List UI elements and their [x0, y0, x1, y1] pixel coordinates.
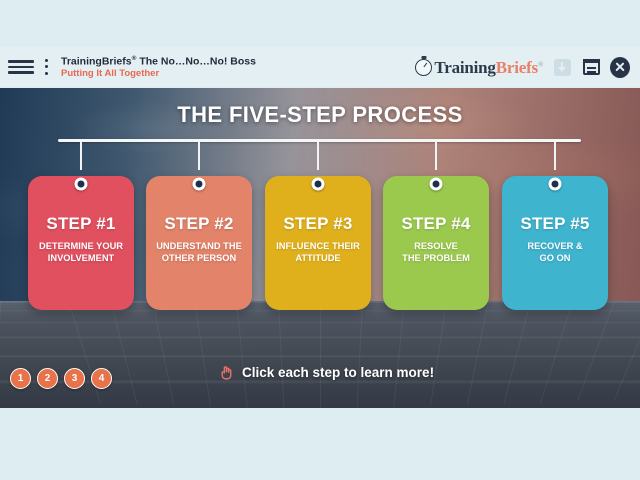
- course-title-rest: The No…No…No! Boss: [136, 55, 256, 67]
- step-cards-group: STEP #1DETERMINE YOURINVOLVEMENTSTEP #2U…: [0, 142, 640, 312]
- step-card-2[interactable]: STEP #2UNDERSTAND THEOTHER PERSON: [146, 162, 252, 310]
- presentation-player: TrainingBriefs® The No…No…No! Boss Putti…: [0, 0, 640, 480]
- step-card-body-1[interactable]: STEP #1DETERMINE YOURINVOLVEMENT: [28, 176, 134, 310]
- hamburger-icon[interactable]: [8, 58, 34, 76]
- logo-wordmark: TrainingBriefs®: [434, 59, 543, 76]
- paving-line: [540, 301, 573, 403]
- paving-line: [194, 301, 211, 407]
- step-description-2: UNDERSTAND THEOTHER PERSON: [151, 240, 247, 264]
- paving-line: [503, 301, 531, 405]
- paving-line: [577, 301, 615, 402]
- slide-title: THE FIVE-STEP PROCESS: [0, 102, 640, 128]
- slide-stage: THE FIVE-STEP PROCESS STEP #1DETERMINE Y…: [0, 88, 640, 408]
- step-card-1[interactable]: STEP #1DETERMINE YOURINVOLVEMENT: [28, 162, 134, 310]
- logo-registered-mark: ®: [538, 60, 543, 68]
- logo-word-briefs: Briefs: [496, 58, 538, 77]
- step-number-label-4: STEP #4: [383, 214, 489, 234]
- paving-line: [278, 301, 284, 408]
- step-number-label-3: STEP #3: [265, 214, 371, 234]
- pagination-pill-4[interactable]: 4: [91, 368, 112, 389]
- step-drop-line-2: [198, 142, 200, 170]
- step-card-5[interactable]: STEP #5RECOVER &GO ON: [502, 162, 608, 310]
- paving-line: [357, 301, 363, 408]
- step-description-5: RECOVER &GO ON: [507, 240, 603, 264]
- course-title: TrainingBriefs® The No…No…No! Boss: [61, 55, 256, 68]
- step-description-4: RESOLVETHE PROBLEM: [388, 240, 484, 264]
- close-button[interactable]: [610, 57, 630, 77]
- step-eyelet-5: [549, 178, 562, 191]
- step-card-4[interactable]: STEP #4RESOLVETHE PROBLEM: [383, 162, 489, 310]
- step-drop-line-1: [80, 142, 82, 170]
- step-drop-line-5: [554, 142, 556, 170]
- paving-line: [467, 301, 489, 406]
- click-hint-text: Click each step to learn more!: [242, 365, 434, 380]
- download-button[interactable]: [552, 57, 572, 77]
- paving-line: [110, 301, 138, 405]
- step-card-body-3[interactable]: STEP #3INFLUENCE THEIRATTITUDE: [265, 176, 371, 310]
- trainingbriefs-logo: TrainingBriefs®: [415, 59, 543, 76]
- pagination-pill-1[interactable]: 1: [10, 368, 31, 389]
- more-vertical-icon[interactable]: [41, 58, 51, 76]
- course-subtitle: Putting It All Together: [61, 68, 256, 79]
- paving-line: [320, 301, 321, 408]
- step-eyelet-2: [193, 178, 206, 191]
- step-card-3[interactable]: STEP #3INFLUENCE THEIRATTITUDE: [265, 162, 371, 310]
- paving-line: [236, 301, 248, 408]
- paving-line: [393, 301, 405, 408]
- step-eyelet-1: [75, 178, 88, 191]
- paving-line: [152, 301, 174, 406]
- step-drop-line-4: [435, 142, 437, 170]
- logo-word-training: Training: [434, 58, 495, 77]
- header-right-group: TrainingBriefs®: [415, 57, 640, 77]
- pagination-group: 1234: [10, 368, 112, 389]
- stopwatch-icon: [415, 59, 432, 76]
- step-card-body-2[interactable]: STEP #2UNDERSTAND THEOTHER PERSON: [146, 176, 252, 310]
- step-card-body-4[interactable]: STEP #4RESOLVETHE PROBLEM: [383, 176, 489, 310]
- step-number-label-2: STEP #2: [146, 214, 252, 234]
- pagination-pill-2[interactable]: 2: [37, 368, 58, 389]
- step-number-label-5: STEP #5: [502, 214, 608, 234]
- course-title-brand: TrainingBriefs: [61, 55, 132, 67]
- header-left-group: TrainingBriefs® The No…No…No! Boss Putti…: [0, 55, 256, 79]
- step-description-1: DETERMINE YOURINVOLVEMENT: [33, 240, 129, 264]
- step-card-body-5[interactable]: STEP #5RECOVER &GO ON: [502, 176, 608, 310]
- download-icon: [554, 59, 571, 76]
- player-footer-area: [0, 408, 640, 480]
- plaza-ground: [0, 301, 640, 408]
- course-titles: TrainingBriefs® The No…No…No! Boss Putti…: [61, 55, 256, 79]
- player-header: TrainingBriefs® The No…No…No! Boss Putti…: [0, 47, 640, 87]
- paving-line: [430, 301, 447, 407]
- notes-icon: [583, 59, 600, 75]
- click-hint: Click each step to learn more!: [218, 364, 434, 381]
- pointing-hand-icon: [218, 364, 235, 381]
- step-eyelet-4: [430, 178, 443, 191]
- step-eyelet-3: [312, 178, 325, 191]
- paving-lines: [0, 301, 640, 408]
- pagination-pill-3[interactable]: 3: [64, 368, 85, 389]
- notes-button[interactable]: [581, 57, 601, 77]
- paving-line: [614, 301, 640, 400]
- close-icon: [610, 57, 630, 78]
- step-drop-line-3: [317, 142, 319, 170]
- step-description-3: INFLUENCE THEIRATTITUDE: [270, 240, 366, 264]
- step-number-label-1: STEP #1: [28, 214, 134, 234]
